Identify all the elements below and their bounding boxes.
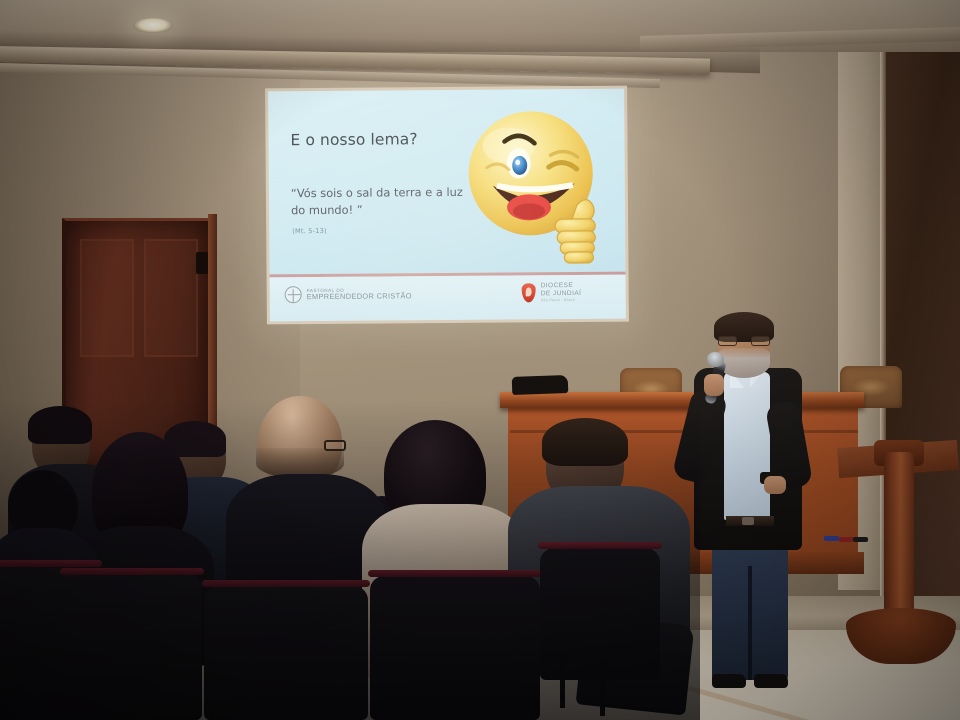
door-panel-left xyxy=(80,239,134,357)
diocese-shield-icon xyxy=(522,283,536,302)
dark-bag[interactable] xyxy=(512,375,569,395)
photo-scene: E o nosso lema? “Vós sois o sal da terra… xyxy=(0,0,960,720)
presenter-shirt xyxy=(724,372,770,520)
pen-red[interactable] xyxy=(839,537,854,542)
chair-leg xyxy=(560,658,565,708)
chair-trim xyxy=(368,570,542,577)
audience-member xyxy=(236,396,376,606)
diocese-logo-line3: São Paulo · Brasil xyxy=(541,298,582,303)
pens-group xyxy=(824,536,866,544)
audience-chair[interactable] xyxy=(370,576,540,720)
chair-trim xyxy=(0,560,102,567)
presenter-hand-right xyxy=(764,476,786,494)
chair-leg xyxy=(424,700,429,720)
audience-hair xyxy=(542,418,628,466)
winking-smiley-thumbs-up-icon xyxy=(456,101,617,272)
presenter-legs-gap xyxy=(748,566,752,680)
presenter[interactable] xyxy=(676,316,826,696)
pen-blue[interactable] xyxy=(824,536,839,541)
projection-screen: E o nosso lema? “Vós sois o sal da terra… xyxy=(265,86,629,325)
pen-black[interactable] xyxy=(853,537,868,542)
presenter-shoe-right xyxy=(754,674,788,688)
door-panel-right xyxy=(144,239,198,357)
chair-leg xyxy=(600,660,605,716)
glasses-icon xyxy=(324,440,346,451)
diocese-logo-line2: DE JUNDIAÍ xyxy=(541,290,582,298)
chair-trim xyxy=(538,542,662,549)
glasses-icon xyxy=(718,336,770,346)
audience-chair[interactable] xyxy=(204,586,368,720)
slide-footer: PASTORAL DO EMPREENDEDOR CRISTÃO DIOCESE… xyxy=(270,275,626,322)
presenter-beard xyxy=(718,348,770,378)
recessed-downlight-icon xyxy=(133,18,173,33)
celtic-cross-icon xyxy=(285,286,302,303)
presenter-shoe-left xyxy=(712,674,746,688)
pastoral-logo-line2: EMPREENDEDOR CRISTÃO xyxy=(307,292,412,301)
wall-mounted-box xyxy=(196,252,208,274)
diocese-logo: DIOCESE DE JUNDIAÍ São Paulo · Brasil xyxy=(522,282,582,303)
slide-bible-reference: (Mt. 5-13) xyxy=(292,227,327,235)
pastoral-logo: PASTORAL DO EMPREENDEDOR CRISTÃO xyxy=(285,285,412,303)
chair-trim xyxy=(202,580,370,587)
chair-trim xyxy=(60,568,204,575)
slide-surface: E o nosso lema? “Vós sois o sal da terra… xyxy=(268,89,626,322)
presenter-hand-left xyxy=(704,374,724,396)
slide-title: E o nosso lema? xyxy=(290,130,417,149)
audience-chair[interactable] xyxy=(62,574,202,720)
slide-quote: “Vós sois o sal da terra e a luz do mund… xyxy=(291,184,471,219)
presenter-belt xyxy=(726,516,774,526)
lectern-column xyxy=(884,452,914,622)
